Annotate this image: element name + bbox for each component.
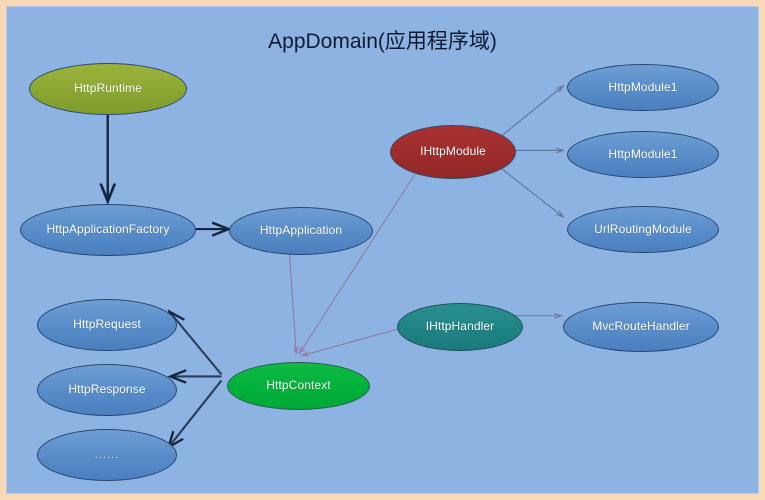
node-label: IHttpHandler bbox=[426, 320, 495, 333]
node-httpapplicationfactory[interactable]: HttpApplicationFactory bbox=[20, 204, 196, 256]
node-label: UrlRoutingModule bbox=[594, 223, 692, 236]
node-label: HttpContext bbox=[266, 379, 330, 392]
edge-ihttpmodule-httpmodule1a bbox=[495, 86, 564, 142]
diagram-canvas: AppDomain(应用程序域) HttpRuntime HttpApplica… bbox=[6, 6, 759, 494]
node-label: HttpResponse bbox=[68, 383, 145, 396]
node-httpresponse[interactable]: HttpResponse bbox=[37, 364, 177, 416]
node-label: IHttpModule bbox=[420, 145, 486, 158]
node-urlroutingmodule[interactable]: UrlRoutingModule bbox=[567, 206, 719, 253]
edge-ihttpmodule-urlroutingmodule bbox=[495, 163, 564, 217]
diagram-stage: AppDomain(应用程序域) HttpRuntime HttpApplica… bbox=[0, 0, 765, 500]
node-httpruntime[interactable]: HttpRuntime bbox=[29, 63, 187, 115]
edge-ihttphandler-httpcontext bbox=[302, 329, 399, 356]
node-label: HttpModule1 bbox=[608, 148, 677, 161]
node-httpcontext[interactable]: HttpContext bbox=[227, 362, 370, 410]
node-label: ...... bbox=[95, 449, 119, 461]
node-label: HttpRuntime bbox=[74, 82, 142, 95]
node-ihttpmodule[interactable]: IHttpModule bbox=[390, 125, 516, 179]
node-httprequest[interactable]: HttpRequest bbox=[37, 299, 177, 351]
diagram-title: AppDomain(应用程序域) bbox=[7, 25, 758, 55]
node-label: MvcRouteHandler bbox=[592, 320, 690, 333]
node-httpmodule1-a[interactable]: HttpModule1 bbox=[567, 64, 719, 111]
node-etc[interactable]: ...... bbox=[37, 429, 177, 481]
node-label: HttpRequest bbox=[73, 318, 141, 331]
node-mvcroutehandler[interactable]: MvcRouteHandler bbox=[563, 302, 719, 352]
node-httpapplication[interactable]: HttpApplication bbox=[229, 207, 373, 255]
edge-httpapplication-httpcontext bbox=[289, 251, 296, 354]
node-label: HttpModule1 bbox=[608, 81, 677, 94]
node-ihttphandler[interactable]: IHttpHandler bbox=[397, 303, 523, 351]
node-label: HttpApplicationFactory bbox=[47, 223, 170, 236]
node-label: HttpApplication bbox=[260, 224, 342, 237]
edge-httpcontext-httprequest bbox=[170, 312, 222, 375]
node-httpmodule1-b[interactable]: HttpModule1 bbox=[567, 131, 719, 178]
